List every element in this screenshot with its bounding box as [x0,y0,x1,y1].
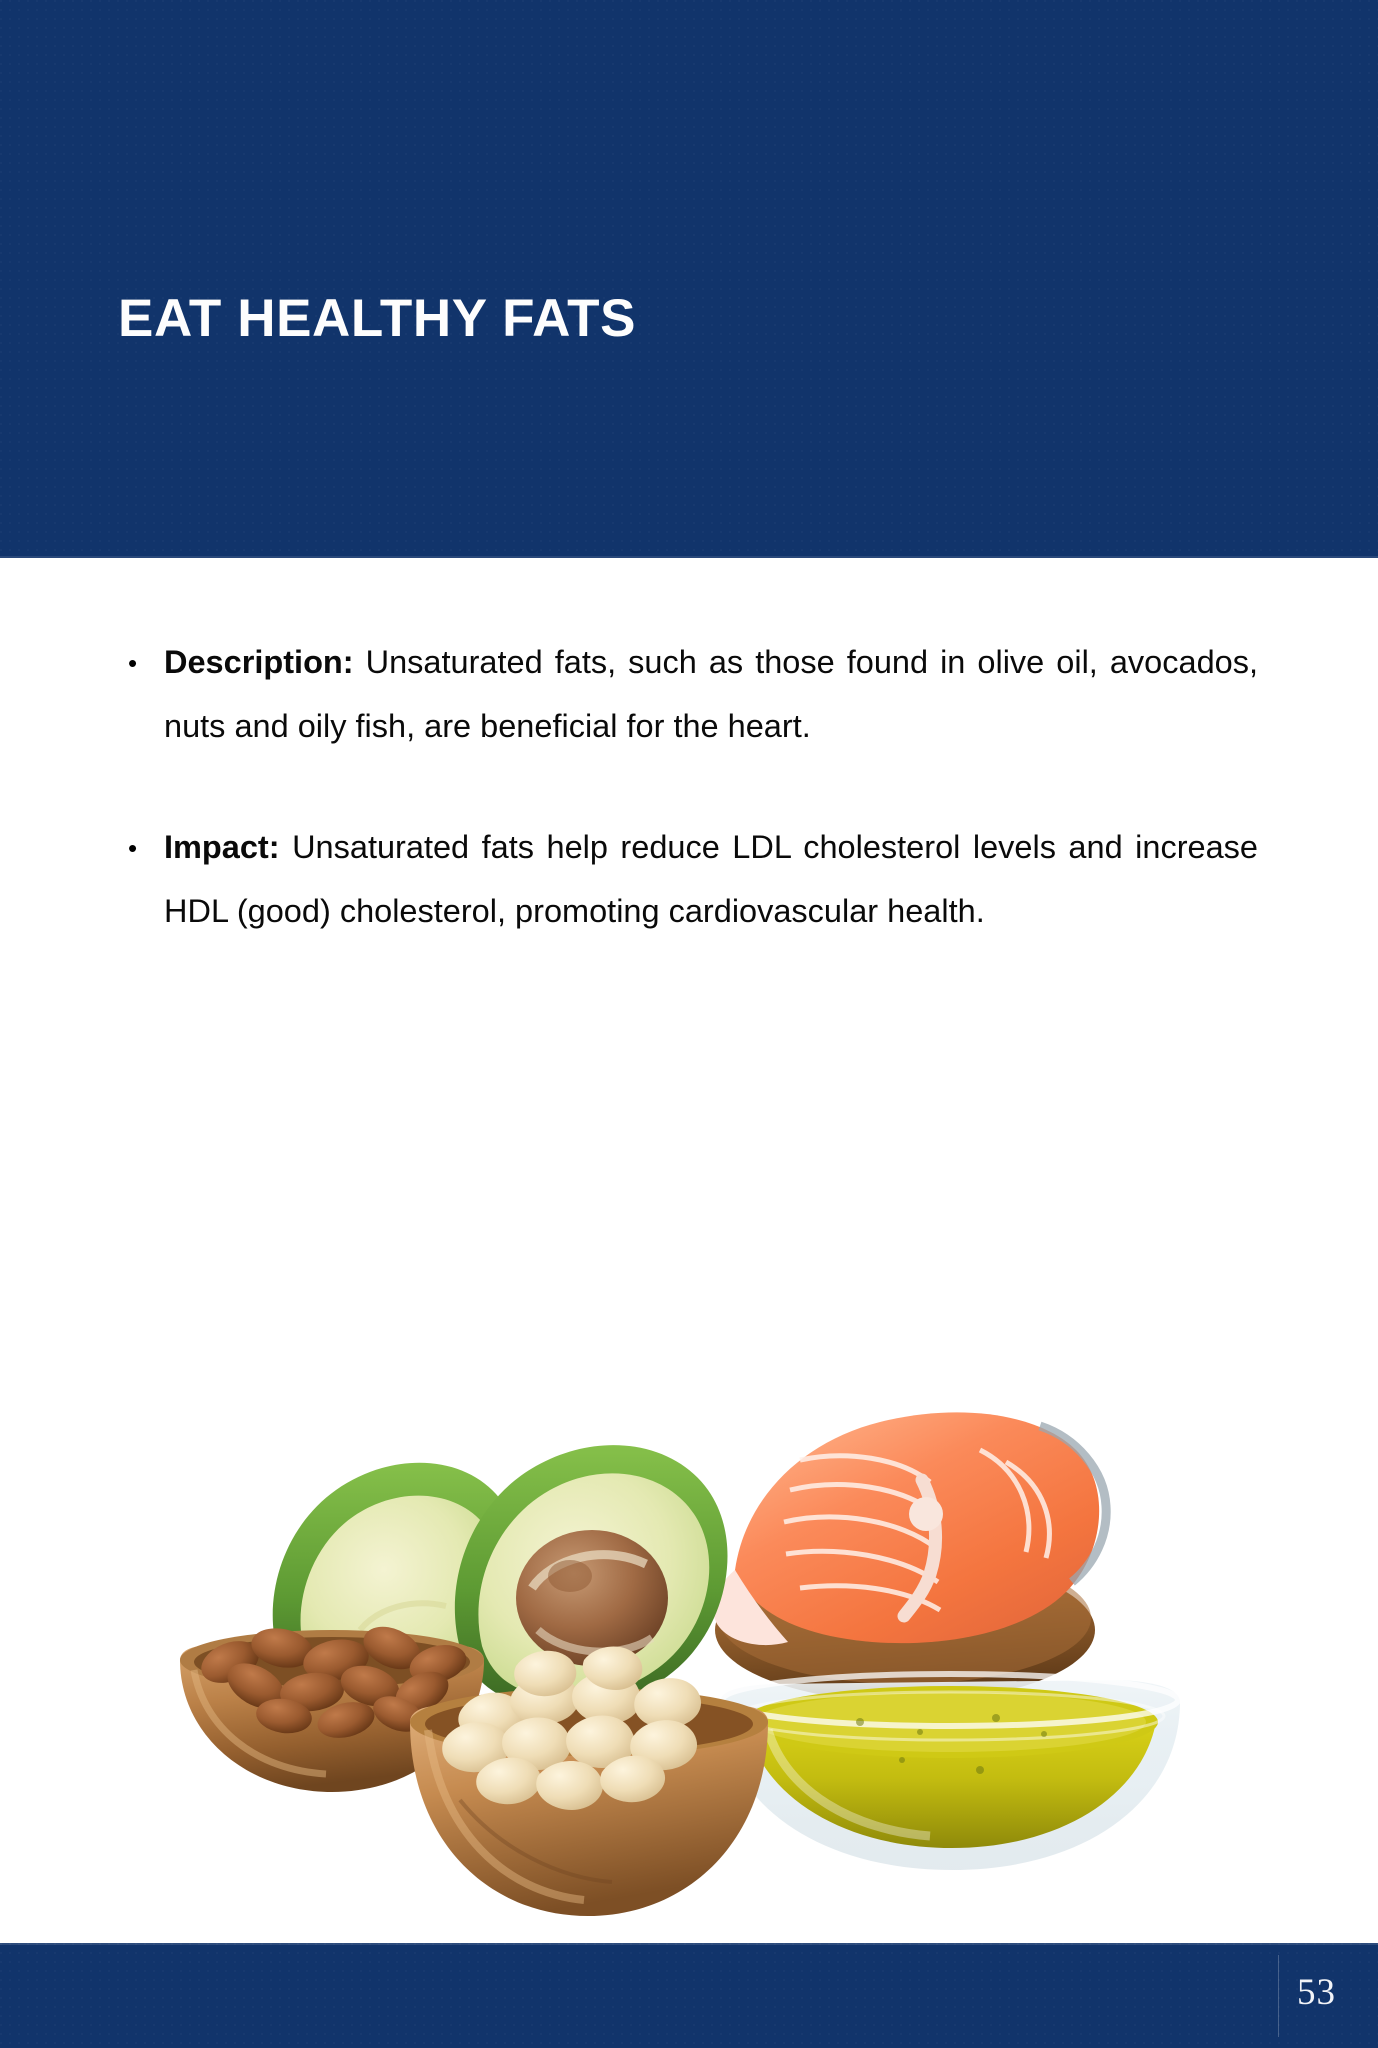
bullet-lead-label: Impact: [164,829,280,865]
olive-oil-bowl-icon [720,1674,1180,1870]
bullet-dot-icon: • [128,815,164,861]
header-band [0,0,1378,558]
list-item: • Description: Unsaturated fats, such as… [128,630,1258,759]
slide: EAT HEALTHY FATS • Description: Unsatura… [0,0,1378,2048]
bullet-body-text: Unsaturated fats help reduce LDL cholest… [164,829,1258,929]
healthy-fats-photo [160,1330,1220,1955]
bullet-dot-icon: • [128,630,164,676]
bullet-text: Impact: Unsaturated fats help reduce LDL… [164,815,1258,944]
footer-divider [1278,1955,1279,2037]
bullet-list: • Description: Unsaturated fats, such as… [128,630,1258,943]
page-number: 53 [1297,1971,1336,2014]
salmon-steak-icon [713,1412,1106,1702]
bullet-text: Description: Unsaturated fats, such as t… [164,630,1258,759]
list-item: • Impact: Unsaturated fats help reduce L… [128,815,1258,944]
footer-band: 53 [0,1943,1378,2048]
page-title: EAT HEALTHY FATS [118,291,636,347]
bullet-lead-label: Description: [164,644,354,680]
